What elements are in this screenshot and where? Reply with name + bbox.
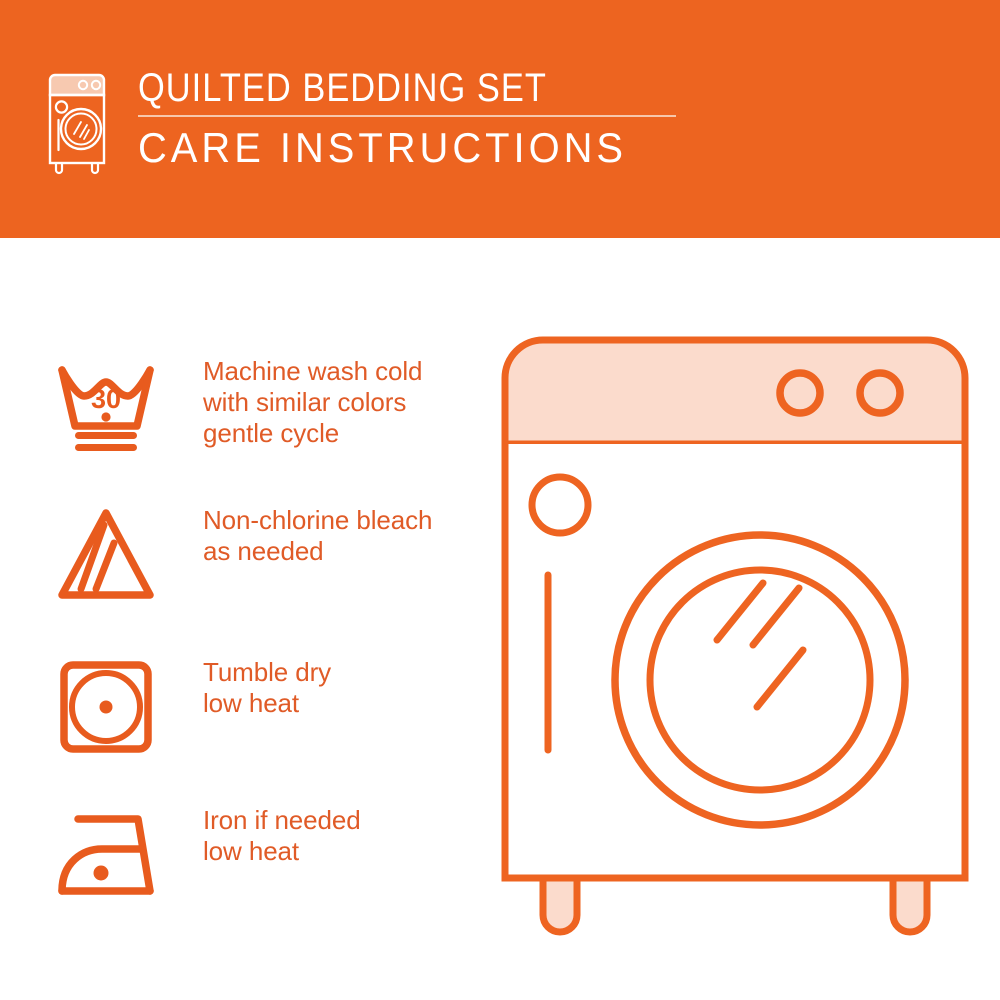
page-title: QUILTED BEDDING SET	[138, 66, 601, 110]
care-instruction-label: Machine wash cold with similar colors ge…	[162, 356, 422, 449]
care-instruction-item-tumble-dry: Tumble dry low heat	[50, 657, 331, 757]
header-banner: QUILTED BEDDING SET CARE INSTRUCTIONS	[0, 0, 1000, 238]
non-chlorine-bleach-triangle-icon	[54, 505, 158, 605]
leg-right	[893, 878, 927, 932]
page-subtitle: CARE INSTRUCTIONS	[138, 124, 649, 172]
care-icon-slot	[50, 505, 162, 605]
care-instruction-label: Tumble dry low heat	[162, 657, 331, 719]
care-instruction-label: Non-chlorine bleach as needed	[162, 505, 432, 567]
header-content: QUILTED BEDDING SET CARE INSTRUCTIONS	[45, 66, 676, 175]
iron-low-heat-icon	[54, 805, 158, 905]
leg-left	[543, 878, 577, 932]
title-divider	[138, 115, 676, 117]
care-instruction-label: Iron if needed low heat	[162, 805, 361, 867]
care-icon-slot	[50, 805, 162, 905]
washing-machine-icon	[45, 70, 111, 175]
care-instruction-item-iron: Iron if needed low heat	[50, 805, 361, 905]
tumble-dry-low-heat-icon	[54, 657, 158, 757]
wash-tub-30-gentle-icon: 30	[54, 356, 158, 456]
machine-body	[505, 444, 965, 878]
control-panel	[505, 340, 965, 444]
header-title-group: QUILTED BEDDING SET CARE INSTRUCTIONS	[138, 66, 676, 172]
washing-machine-illustration	[495, 330, 975, 940]
care-icon-slot	[50, 657, 162, 757]
wash-temperature-label: 30	[91, 384, 121, 414]
care-instruction-item-wash: 30 Machine wash cold with similar colors…	[50, 356, 422, 456]
care-instruction-item-bleach: Non-chlorine bleach as needed	[50, 505, 432, 605]
care-icon-slot: 30	[50, 356, 162, 456]
